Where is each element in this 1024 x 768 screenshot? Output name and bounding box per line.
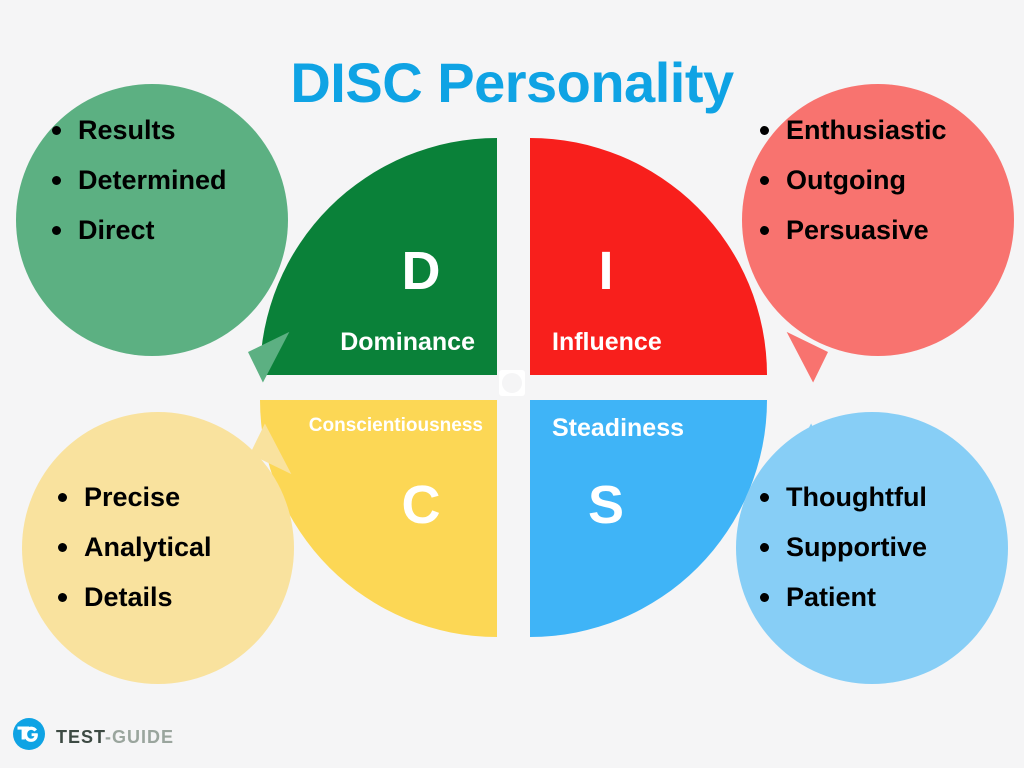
list-item: Determined — [44, 155, 227, 205]
quadrant-influence[interactable]: I Influence — [530, 138, 767, 375]
brand-wordmark-secondary: -GUIDE — [105, 727, 174, 747]
list-item: Precise — [50, 472, 212, 522]
list-item: Supportive — [752, 522, 927, 572]
quadrant-steadiness-label: Steadiness — [552, 416, 684, 441]
quadrant-steadiness-letter: S — [566, 478, 646, 532]
quadrant-influence-letter: I — [566, 244, 646, 298]
trait-list-dominance: Results Determined Direct — [44, 105, 227, 255]
list-item: Results — [44, 105, 227, 155]
brand-wordmark: TEST-GUIDE — [56, 728, 174, 746]
quadrant-conscientiousness[interactable]: C Conscientiousness — [260, 400, 497, 637]
list-item: Direct — [44, 205, 227, 255]
list-item: Enthusiastic — [752, 105, 947, 155]
center-ornament-icon — [499, 370, 525, 396]
list-item: Persuasive — [752, 205, 947, 255]
trait-bubble-influence: Enthusiastic Outgoing Persuasive — [742, 84, 1014, 356]
trait-list-conscientiousness: Precise Analytical Details — [50, 472, 212, 622]
list-item: Details — [50, 572, 212, 622]
infographic-canvas: DISC Personality D Dominance I Influence… — [0, 0, 1024, 768]
quadrant-steadiness[interactable]: S Steadiness — [530, 400, 767, 637]
quadrant-influence-label: Influence — [552, 330, 662, 355]
quadrant-dominance-letter: D — [381, 244, 461, 298]
brand-wordmark-primary: TEST — [56, 727, 105, 747]
list-item: Patient — [752, 572, 927, 622]
quadrant-dominance[interactable]: D Dominance — [260, 138, 497, 375]
footer-logo[interactable]: TEST-GUIDE — [12, 717, 174, 756]
trait-list-steadiness: Thoughtful Supportive Patient — [752, 472, 927, 622]
list-item: Analytical — [50, 522, 212, 572]
quadrant-conscientiousness-letter: C — [381, 478, 461, 532]
quadrant-dominance-label: Dominance — [340, 330, 475, 355]
list-item: Thoughtful — [752, 472, 927, 522]
list-item: Outgoing — [752, 155, 947, 205]
trait-bubble-steadiness: Thoughtful Supportive Patient — [736, 412, 1008, 684]
trait-bubble-conscientiousness: Precise Analytical Details — [22, 412, 294, 684]
quadrant-conscientiousness-label: Conscientiousness — [309, 416, 483, 435]
test-guide-tg-monogram-icon — [12, 717, 46, 756]
trait-list-influence: Enthusiastic Outgoing Persuasive — [752, 105, 947, 255]
trait-bubble-dominance: Results Determined Direct — [16, 84, 288, 356]
